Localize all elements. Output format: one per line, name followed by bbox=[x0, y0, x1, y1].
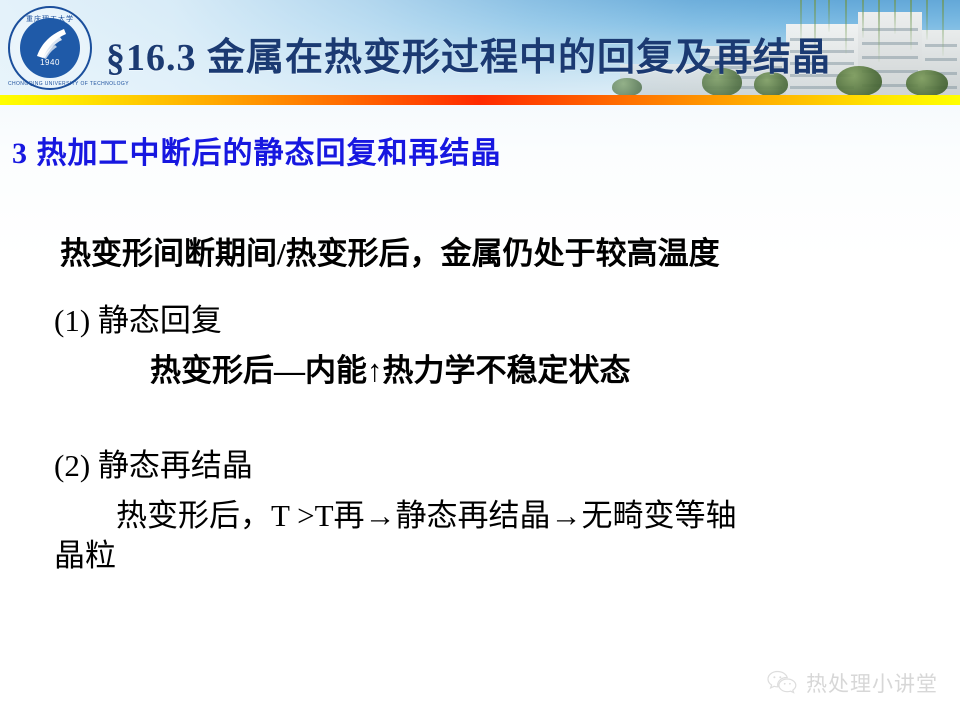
watermark: 热处理小讲堂 bbox=[767, 668, 938, 698]
page-title: §16.3 金属在热变形过程中的回复及再结晶 bbox=[106, 26, 831, 81]
header-divider-bar bbox=[0, 95, 960, 105]
slide-canvas: 重庆理工大学 1940 CHONGQING UNIVERSITY OF TECH… bbox=[0, 0, 960, 720]
crest-founded-year: 1940 bbox=[8, 58, 92, 67]
list-item-2-detail-line-2: 晶粒 bbox=[54, 530, 116, 575]
lead-paragraph: 热变形间断期间/热变形后，金属仍处于较高温度 bbox=[60, 228, 720, 273]
crest-english-name: CHONGQING UNIVERSITY OF TECHNOLOGY bbox=[8, 81, 92, 87]
list-item-1-detail: 热变形后—内能↑热力学不稳定状态 bbox=[150, 345, 631, 390]
list-item-2-detail-line-1: 热变形后，T >T再→静态再结晶→无畸变等轴 bbox=[116, 490, 737, 535]
header-banner: 重庆理工大学 1940 CHONGQING UNIVERSITY OF TECH… bbox=[0, 0, 960, 95]
university-crest-icon: 重庆理工大学 1940 CHONGQING UNIVERSITY OF TECH… bbox=[8, 6, 92, 90]
section-heading: 3 热加工中断后的静态回复和再结晶 bbox=[12, 128, 502, 172]
wechat-icon bbox=[767, 670, 797, 696]
list-item-1-label: (1) 静态回复 bbox=[54, 295, 222, 340]
list-item-2-label: (2) 静态再结晶 bbox=[54, 440, 253, 485]
crest-swoosh-icon bbox=[30, 26, 70, 62]
watermark-text: 热处理小讲堂 bbox=[806, 668, 938, 698]
